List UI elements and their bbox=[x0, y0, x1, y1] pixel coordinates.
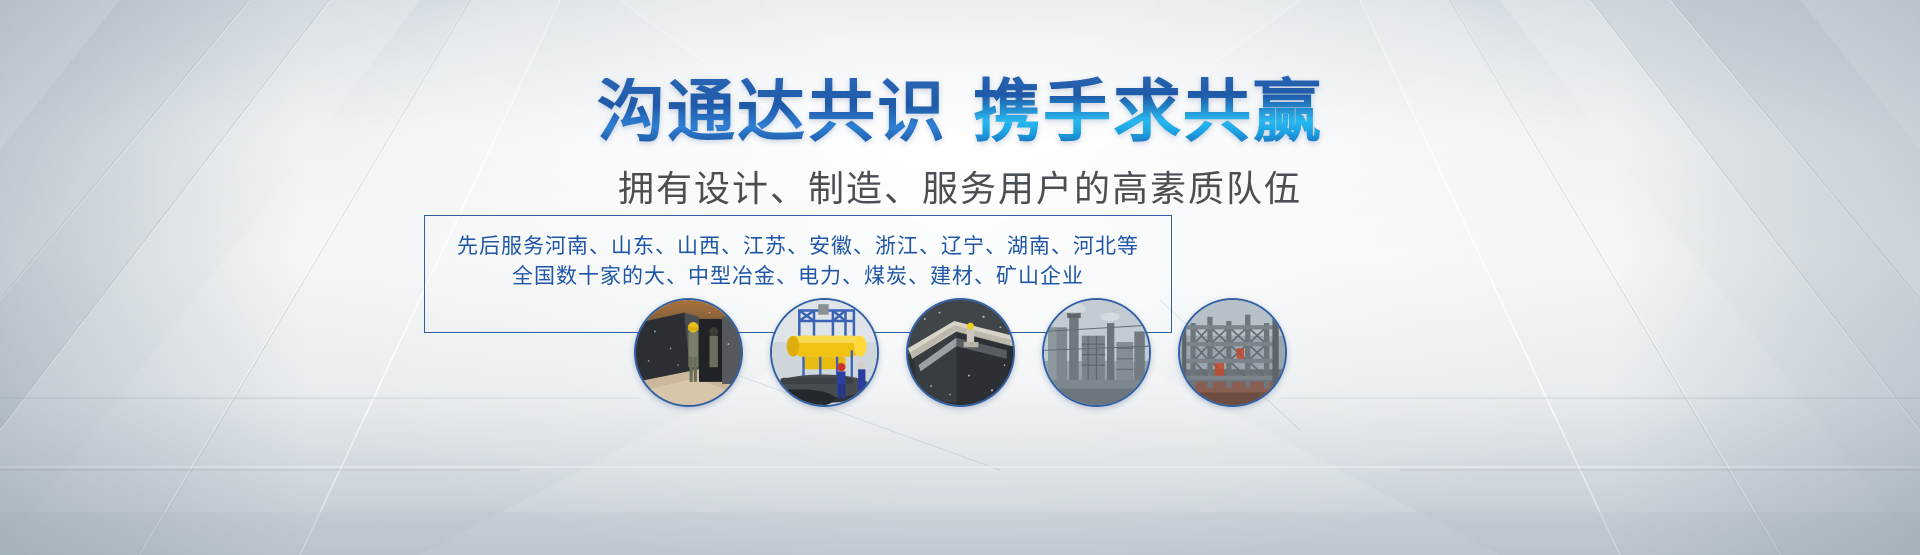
headline-part-2: 携手求共赢 bbox=[973, 74, 1323, 150]
banner-content: 沟通达共识携手求共赢 拥有设计、制造、服务用户的高素质队伍 bbox=[0, 0, 1920, 209]
photo-plant-facility-image bbox=[1044, 300, 1149, 405]
photo-metal-structure-image bbox=[908, 300, 1013, 405]
photo-yellow-equipment-image bbox=[772, 300, 877, 405]
headline: 沟通达共识携手求共赢 bbox=[0, 78, 1920, 146]
photo-steel-framework[interactable] bbox=[1178, 298, 1287, 407]
photo-steel-plate-worker-image bbox=[636, 300, 741, 405]
photo-metal-structure[interactable] bbox=[906, 298, 1015, 407]
headline-part-1: 沟通达共识 bbox=[597, 74, 947, 150]
photo-steel-plate-worker[interactable] bbox=[634, 298, 743, 407]
photo-steel-framework-image bbox=[1180, 300, 1285, 405]
promo-banner: 沟通达共识携手求共赢 拥有设计、制造、服务用户的高素质队伍 先后服务河南、山东、… bbox=[0, 0, 1920, 555]
photo-yellow-equipment[interactable] bbox=[770, 298, 879, 407]
service-scope-line-1: 先后服务河南、山东、山西、江苏、安徽、浙江、辽宁、湖南、河北等 bbox=[425, 232, 1171, 262]
service-scope-line-2: 全国数十家的大、中型冶金、电力、煤炭、建材、矿山企业 bbox=[425, 262, 1171, 292]
subheadline: 拥有设计、制造、服务用户的高素质队伍 bbox=[0, 168, 1920, 209]
project-photo-row bbox=[0, 293, 1920, 411]
photo-plant-facility[interactable] bbox=[1042, 298, 1151, 407]
